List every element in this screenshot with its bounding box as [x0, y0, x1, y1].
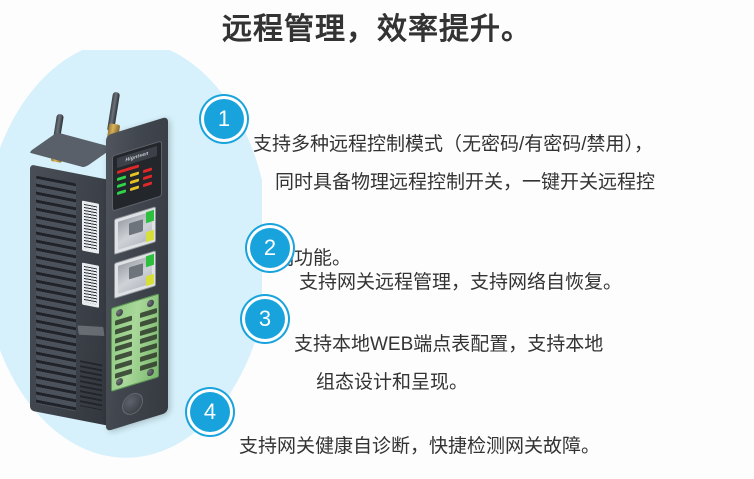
feature-3-line-1: 支持本地WEB端点表配置，支持本地: [294, 334, 603, 355]
feature-badge-4: 4: [190, 392, 230, 432]
feature-text-4: 支持网关健康自诊断，快捷检测网关故障。: [239, 390, 739, 466]
feature-1-line-1: 支持多种远程控制模式（无密码/有密码/禁用），: [253, 134, 653, 155]
feature-badge-3: 3: [245, 299, 285, 339]
feature-list: 1 支持多种远程控制模式（无密码/有密码/禁用）， 同时具备物理远程控制开关，一…: [0, 0, 754, 479]
feature-4-line-1: 支持网关健康自诊断，快捷检测网关故障。: [239, 436, 600, 457]
feature-1-line-2: 同时具备物理远程控制开关，一键开关远程控: [253, 164, 743, 202]
feature-badge-2: 2: [250, 228, 290, 268]
feature-badge-1: 1: [204, 99, 244, 139]
